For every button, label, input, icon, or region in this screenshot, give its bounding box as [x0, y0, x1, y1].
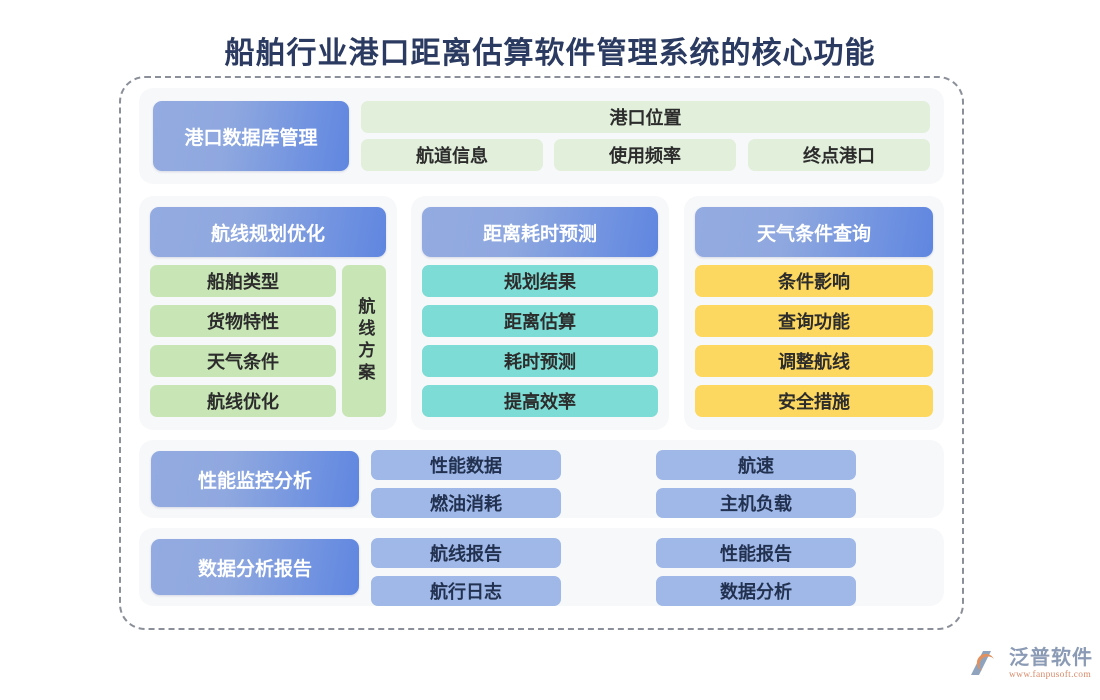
section-port-database: 港口数据库管理 港口位置 航道信息 使用频率 终点港口 — [139, 88, 944, 184]
fanpu-brand-icon — [968, 648, 1002, 680]
chip-performance-data[interactable]: 性能数据 — [371, 450, 561, 480]
route-planning-items: 船舶类型 货物特性 天气条件 航线优化 — [150, 265, 336, 425]
page-title: 船舶行业港口距离估算软件管理系统的核心功能 — [0, 28, 1100, 72]
chip-performance-report[interactable]: 性能报告 — [656, 538, 856, 568]
chip-safety-measure[interactable]: 安全措施 — [695, 385, 933, 417]
chip-usage-frequency[interactable]: 使用频率 — [554, 139, 736, 171]
section-distance-time: 距离耗时预测 规划结果 距离估算 耗时预测 提高效率 — [411, 196, 669, 430]
chip-main-engine-load[interactable]: 主机负载 — [656, 488, 856, 518]
chip-condition-impact[interactable]: 条件影响 — [695, 265, 933, 297]
section-data-reports: 数据分析报告 航线报告 性能报告 航行日志 数据分析 — [139, 528, 944, 606]
brand-logo-text: 泛普软件 www.fanpusoft.com — [1009, 648, 1093, 681]
section-header-data-reports[interactable]: 数据分析报告 — [151, 539, 359, 595]
chip-planning-result[interactable]: 规划结果 — [422, 265, 658, 297]
chip-distance-estimate[interactable]: 距离估算 — [422, 305, 658, 337]
chip-efficiency-boost[interactable]: 提高效率 — [422, 385, 658, 417]
chip-destination-port[interactable]: 终点港口 — [748, 139, 930, 171]
chip-data-analysis[interactable]: 数据分析 — [656, 576, 856, 606]
brand-logo: 泛普软件 www.fanpusoft.com — [968, 648, 1093, 681]
section-performance-monitor: 性能监控分析 性能数据 航速 燃油消耗 主机负载 — [139, 440, 944, 518]
section-header-port-database[interactable]: 港口数据库管理 — [153, 101, 349, 171]
chip-route-report[interactable]: 航线报告 — [371, 538, 561, 568]
chip-channel-info[interactable]: 航道信息 — [361, 139, 543, 171]
chip-port-location[interactable]: 港口位置 — [361, 101, 930, 133]
chip-query-function[interactable]: 查询功能 — [695, 305, 933, 337]
chip-speed[interactable]: 航速 — [656, 450, 856, 480]
chip-route-scheme[interactable]: 航线方案 — [342, 265, 386, 417]
section-header-weather-query[interactable]: 天气条件查询 — [695, 207, 933, 257]
section-header-performance-monitor[interactable]: 性能监控分析 — [151, 451, 359, 507]
chip-route-optimization[interactable]: 航线优化 — [150, 385, 336, 417]
weather-query-items: 条件影响 查询功能 调整航线 安全措施 — [695, 265, 933, 425]
chip-adjust-route[interactable]: 调整航线 — [695, 345, 933, 377]
chip-weather-condition[interactable]: 天气条件 — [150, 345, 336, 377]
distance-time-items: 规划结果 距离估算 耗时预测 提高效率 — [422, 265, 658, 425]
brand-name-cn: 泛普软件 — [1009, 648, 1093, 668]
infographic-page: 船舶行业港口距离估算软件管理系统的核心功能 泛普软件 FANPU SOFTWAR… — [0, 0, 1100, 700]
section-header-distance-time[interactable]: 距离耗时预测 — [422, 207, 658, 257]
brand-url: www.fanpusoft.com — [1009, 671, 1093, 681]
chip-fuel-consumption[interactable]: 燃油消耗 — [371, 488, 561, 518]
section-header-route-planning[interactable]: 航线规划优化 — [150, 207, 386, 257]
section-weather-query: 天气条件查询 条件影响 查询功能 调整航线 安全措施 — [684, 196, 944, 430]
section-route-planning: 航线规划优化 船舶类型 货物特性 天气条件 航线优化 航线方案 — [139, 196, 397, 430]
chip-cargo-feature[interactable]: 货物特性 — [150, 305, 336, 337]
chip-time-prediction[interactable]: 耗时预测 — [422, 345, 658, 377]
chip-ship-type[interactable]: 船舶类型 — [150, 265, 336, 297]
chip-voyage-log[interactable]: 航行日志 — [371, 576, 561, 606]
